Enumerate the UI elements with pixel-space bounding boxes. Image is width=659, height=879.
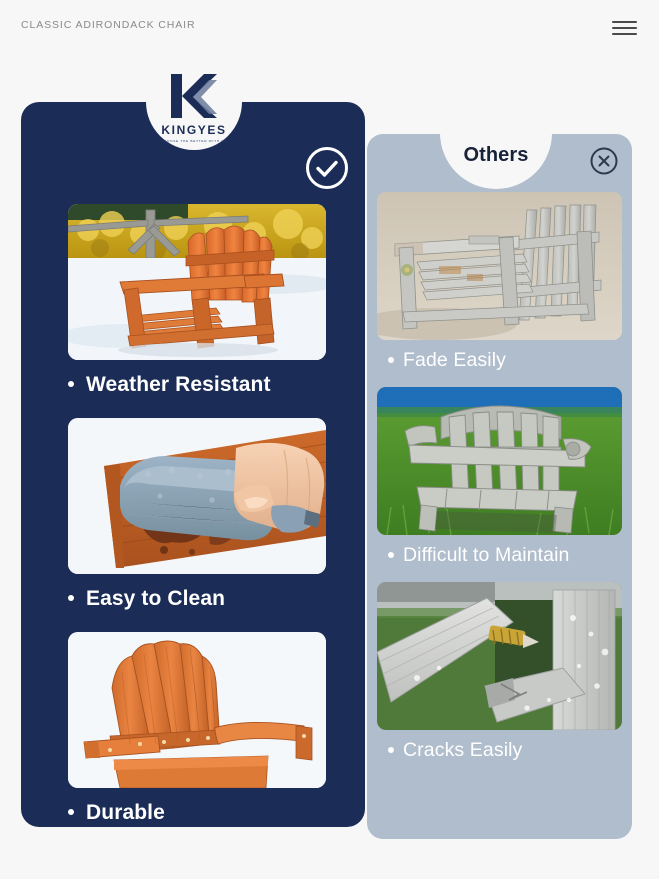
cracked-wet-wooden-board-with-screw-photo — [377, 582, 622, 730]
list-item-label: Easy to Clean — [68, 574, 326, 621]
list-item[interactable]: Weather Resistant — [68, 204, 326, 407]
bullet-icon — [68, 595, 74, 601]
list-item-label: Cracks Easily — [377, 730, 622, 770]
bullet-icon — [68, 381, 74, 387]
list-item[interactable]: Durable — [68, 632, 326, 835]
comparison-stage: Others — [0, 52, 659, 879]
list-item-label: Fade Easily — [377, 340, 622, 380]
orange-chair-fan-back-closeup-photo — [68, 632, 326, 788]
weathered-gray-chair-on-grass-photo — [377, 387, 622, 535]
brand-logo: KINGYES CHOOSE THE BETTER WITH US — [146, 70, 242, 152]
orange-adirondack-chair-in-snow-photo — [68, 204, 326, 360]
faded-gray-wooden-chair-on-sand-photo — [377, 192, 622, 340]
list-item-label: Weather Resistant — [68, 360, 326, 407]
brand-name: KINGYES — [146, 123, 242, 137]
others-panel: Others — [367, 134, 632, 839]
brand-feature-list: Weather Resistant — [68, 204, 326, 846]
hand-wiping-spill-with-towel-photo — [68, 418, 326, 574]
list-item-label: Difficult to Maintain — [377, 535, 622, 575]
others-drawback-list: Fade Easily — [377, 192, 622, 777]
close-circle-icon[interactable] — [589, 146, 619, 176]
brand-tagline: CHOOSE THE BETTER WITH US — [146, 139, 242, 143]
page-header: CLASSIC ADIRONDACK CHAIR — [0, 0, 659, 52]
page-title: CLASSIC ADIRONDACK CHAIR — [21, 19, 195, 31]
others-panel-title: Others — [440, 144, 552, 167]
brand-panel: KINGYES CHOOSE THE BETTER WITH US — [21, 102, 365, 827]
bullet-icon — [388, 747, 394, 753]
product-comparison-page: CLASSIC ADIRONDACK CHAIR Others — [0, 0, 659, 879]
list-item[interactable]: Fade Easily — [377, 192, 622, 380]
hamburger-menu-icon[interactable] — [612, 19, 637, 35]
stylized-k-monogram-icon — [159, 70, 229, 122]
check-circle-icon[interactable] — [305, 146, 349, 190]
list-item-label: Durable — [68, 788, 326, 835]
list-item[interactable]: Difficult to Maintain — [377, 387, 622, 575]
list-item[interactable]: Cracks Easily — [377, 582, 622, 770]
list-item[interactable]: Easy to Clean — [68, 418, 326, 621]
bullet-icon — [388, 357, 394, 363]
bullet-icon — [388, 552, 394, 558]
bullet-icon — [68, 809, 74, 815]
